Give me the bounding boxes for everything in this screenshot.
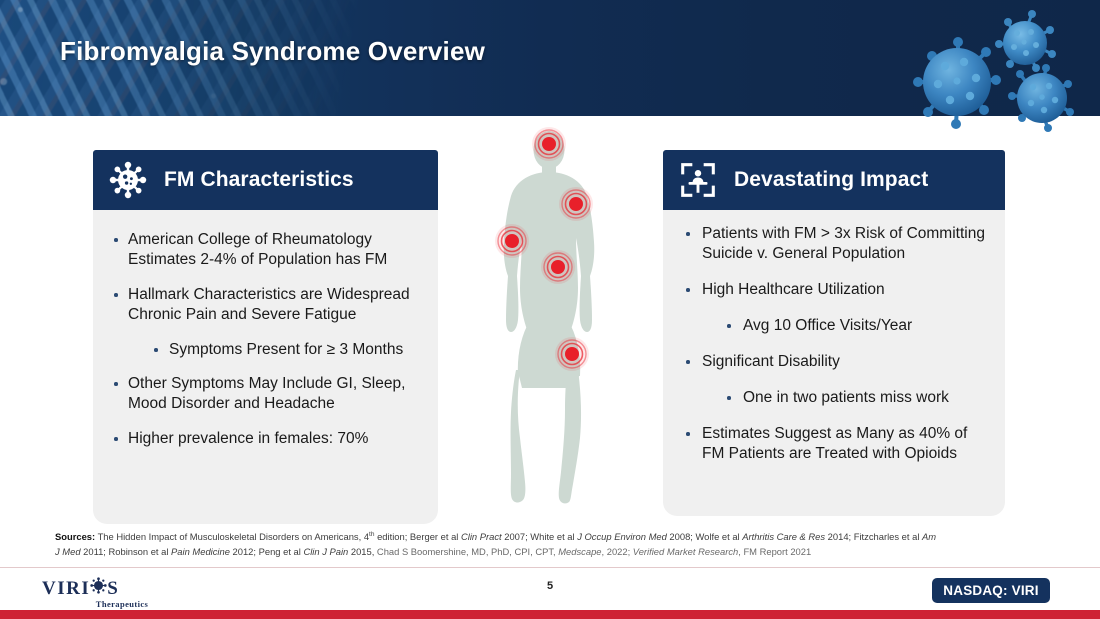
page-title: Fibromyalgia Syndrome Overview (60, 36, 485, 67)
slide: Fibromyalgia Syndrome Overview (0, 0, 1100, 619)
devastating-impact-title: Devastating Impact (734, 168, 928, 192)
list-item: Higher prevalence in females: 70% (107, 429, 422, 449)
list-item: American College of Rheumatology Estimat… (107, 230, 422, 270)
sources-footnote: Sources: The Hidden Impact of Musculoske… (55, 528, 1055, 559)
fm-characteristics-title: FM Characteristics (164, 168, 354, 192)
status-badge: NASDAQ: VIRI (932, 578, 1050, 603)
pain-point-marker (541, 250, 575, 284)
list-item: Symptoms Present for ≥ 3 Months (107, 340, 422, 360)
accent-bar (0, 610, 1100, 619)
fm-characteristics-card-header: FM Characteristics (93, 150, 438, 210)
virus-particle-icon (913, 37, 1001, 129)
devastating-impact-card-header: Devastating Impact (663, 150, 1005, 210)
devastating-impact-body: Patients with FM > 3x Risk of Committing… (663, 210, 1005, 516)
list-item: Hallmark Characteristics are Widespread … (107, 285, 422, 325)
sources-line-1: The Hidden Impact of Musculoskeletal Dis… (98, 531, 937, 542)
pain-point-marker (555, 337, 589, 371)
virus-decoration-cluster (900, 0, 1100, 145)
pain-point-marker (532, 127, 566, 161)
list-item: Estimates Suggest as Many as 40% of FM P… (677, 424, 989, 464)
virus-particle-icon (1008, 64, 1074, 132)
pain-point-marker (559, 187, 593, 221)
list-item: High Healthcare Utilization (677, 280, 989, 300)
female-body-silhouette (470, 126, 640, 516)
sources-label: Sources: (55, 531, 95, 542)
footer-divider (0, 567, 1100, 568)
list-item: Significant Disability (677, 352, 989, 372)
fm-characteristics-bullet-list: American College of Rheumatology Estimat… (107, 230, 422, 449)
list-item: Other Symptoms May Include GI, Sleep, Mo… (107, 374, 422, 414)
fm-characteristics-card: FM Characteristics American College of R… (93, 150, 438, 524)
devastating-impact-bullet-list: Patients with FM > 3x Risk of Committing… (677, 224, 989, 464)
virus-icon (102, 161, 154, 199)
list-item: Patients with FM > 3x Risk of Committing… (677, 224, 989, 264)
list-item: One in two patients miss work (677, 388, 989, 408)
devastating-impact-card: Devastating Impact Patients with FM > 3x… (663, 150, 1005, 516)
silhouette-shape (504, 131, 595, 503)
list-item: Avg 10 Office Visits/Year (677, 316, 989, 336)
person-in-frame-icon (672, 162, 724, 198)
logo-subtitle: Therapeutics (42, 599, 202, 609)
virus-particle-icon (995, 10, 1056, 72)
sources-line-2: J Med 2011; Robinson et al Pain Medicine… (55, 546, 811, 557)
fm-characteristics-body: American College of Rheumatology Estimat… (93, 210, 438, 524)
pain-point-marker (495, 224, 529, 258)
